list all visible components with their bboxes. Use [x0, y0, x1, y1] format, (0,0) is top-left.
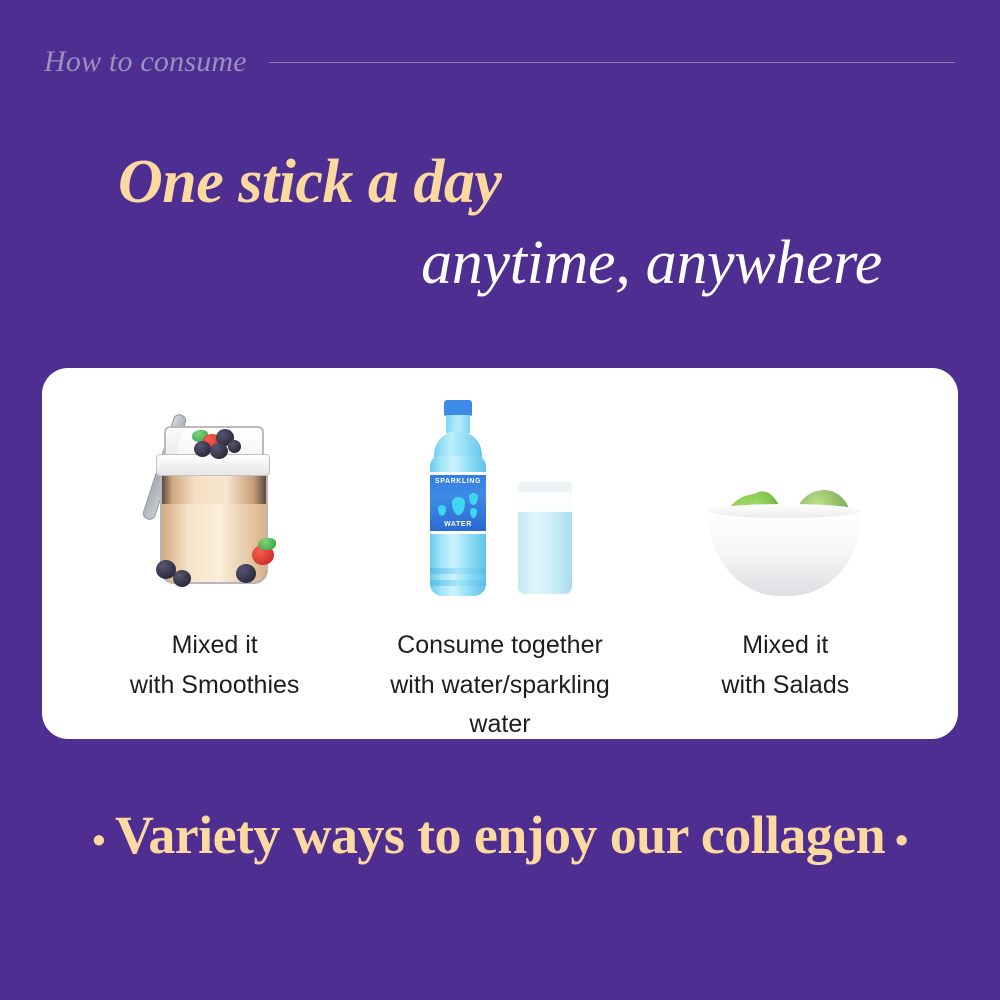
- method-caption-smoothies: Mixed it with Smoothies: [130, 626, 300, 705]
- footer-bullet-right: •: [885, 820, 918, 862]
- method-art-water: SPARKLING WATER: [357, 396, 642, 596]
- water-drop-icon: [470, 508, 477, 518]
- glass-empty-space: [518, 490, 572, 512]
- water-bottle-icon: SPARKLING WATER: [426, 400, 490, 596]
- water-drop-icon: [469, 493, 478, 505]
- footer-tagline: •Variety ways to enjoy our collagen•: [0, 804, 1000, 866]
- salad-bowl-icon: [697, 456, 873, 596]
- header-divider-line: [269, 62, 955, 63]
- bowl-shape: [709, 510, 861, 596]
- water-glass-icon: [518, 482, 572, 594]
- bowl-lip-shape: [709, 504, 861, 518]
- bottle-label: SPARKLING WATER: [430, 472, 486, 534]
- blackberry-icon: [194, 441, 211, 457]
- method-item-smoothies: Mixed it with Smoothies: [72, 396, 357, 705]
- glass-rim-shape: [518, 482, 572, 492]
- method-art-salads: [643, 396, 928, 596]
- yogurt-jar-with-berries-icon: [140, 410, 290, 596]
- footer-tagline-text: Variety ways to enjoy our collagen: [115, 805, 885, 865]
- eyebrow-label: How to consume: [44, 45, 247, 79]
- method-art-smoothies: [72, 396, 357, 596]
- method-caption-salads: Mixed it with Salads: [721, 626, 849, 705]
- footer-bullet-left: •: [82, 820, 115, 862]
- headline-secondary: anytime, anywhere: [0, 231, 882, 296]
- method-caption-water: Consume together with water/sparkling wa…: [357, 626, 642, 745]
- method-item-water: SPARKLING WATER Consume together with wa…: [357, 396, 642, 745]
- blackberry-icon: [236, 564, 256, 583]
- header: How to consume: [0, 34, 1000, 90]
- blackberry-icon: [210, 443, 228, 459]
- blueberry-icon: [228, 440, 241, 453]
- methods-card: Mixed it with Smoothies SPARKLING: [42, 368, 958, 739]
- bottle-ridge-shape: [430, 580, 486, 586]
- sparkling-water-bottle-and-glass-icon: SPARKLING WATER: [420, 400, 580, 596]
- headline-block: One stick a day anytime, anywhere: [0, 150, 1000, 296]
- blueberry-icon: [173, 570, 191, 587]
- bottle-label-bottom-text: WATER: [444, 521, 472, 528]
- water-drop-icon: [438, 505, 446, 516]
- strawberry-leaf-icon: [258, 538, 276, 550]
- method-item-salads: Mixed it with Salads: [643, 396, 928, 705]
- water-drop-icon: [452, 497, 465, 515]
- bottle-cap-shape: [444, 400, 472, 416]
- headline-primary: One stick a day: [118, 150, 1000, 215]
- bottle-ridge-shape: [430, 568, 486, 574]
- bottle-label-top-text: SPARKLING: [435, 478, 481, 485]
